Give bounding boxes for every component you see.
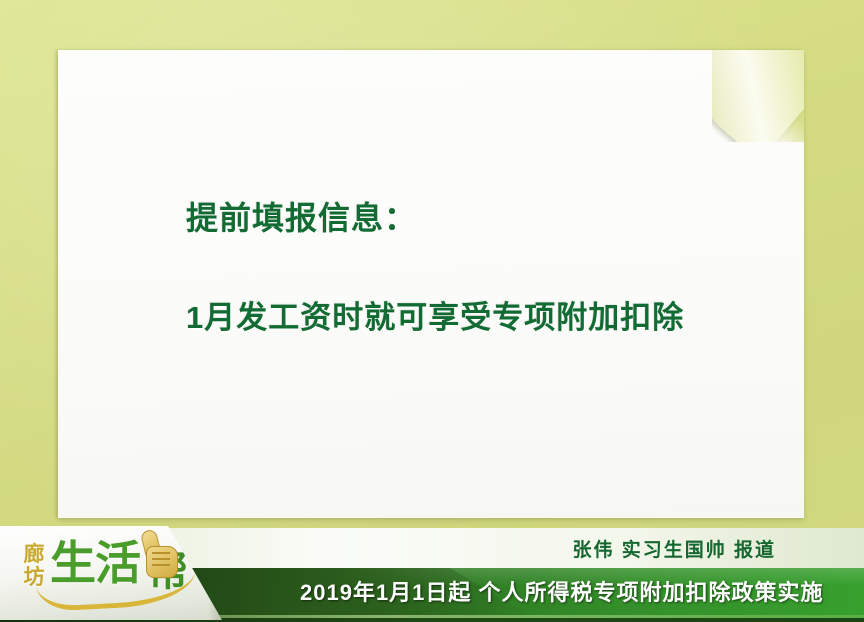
page-curl-shade xyxy=(712,50,804,142)
page-curl-sheet xyxy=(712,50,804,142)
slide-text-block: 提前填报信息： 1月发工资时就可享受专项附加扣除 xyxy=(186,202,764,333)
logo-city-char-top: 廊 xyxy=(18,544,50,567)
thumbs-up-finger-lines xyxy=(152,552,172,572)
presentation-slide: 提前填报信息： 1月发工资时就可享受专项附加扣除 xyxy=(58,50,804,518)
page-curl-corner xyxy=(712,50,804,142)
slide-heading-line-1: 提前填报信息： xyxy=(186,202,764,234)
slide-heading-line-2: 1月发工资时就可享受专项附加扣除 xyxy=(186,302,764,333)
lower-third-banner: 张伟 实习生国帅 报道 2019年1月1日起 个人所得税专项附加扣除政策实施 廊… xyxy=(0,514,864,622)
broadcast-screenshot: 提前填报信息： 1月发工资时就可享受专项附加扣除 张伟 实习生国帅 报道 201… xyxy=(0,0,864,622)
